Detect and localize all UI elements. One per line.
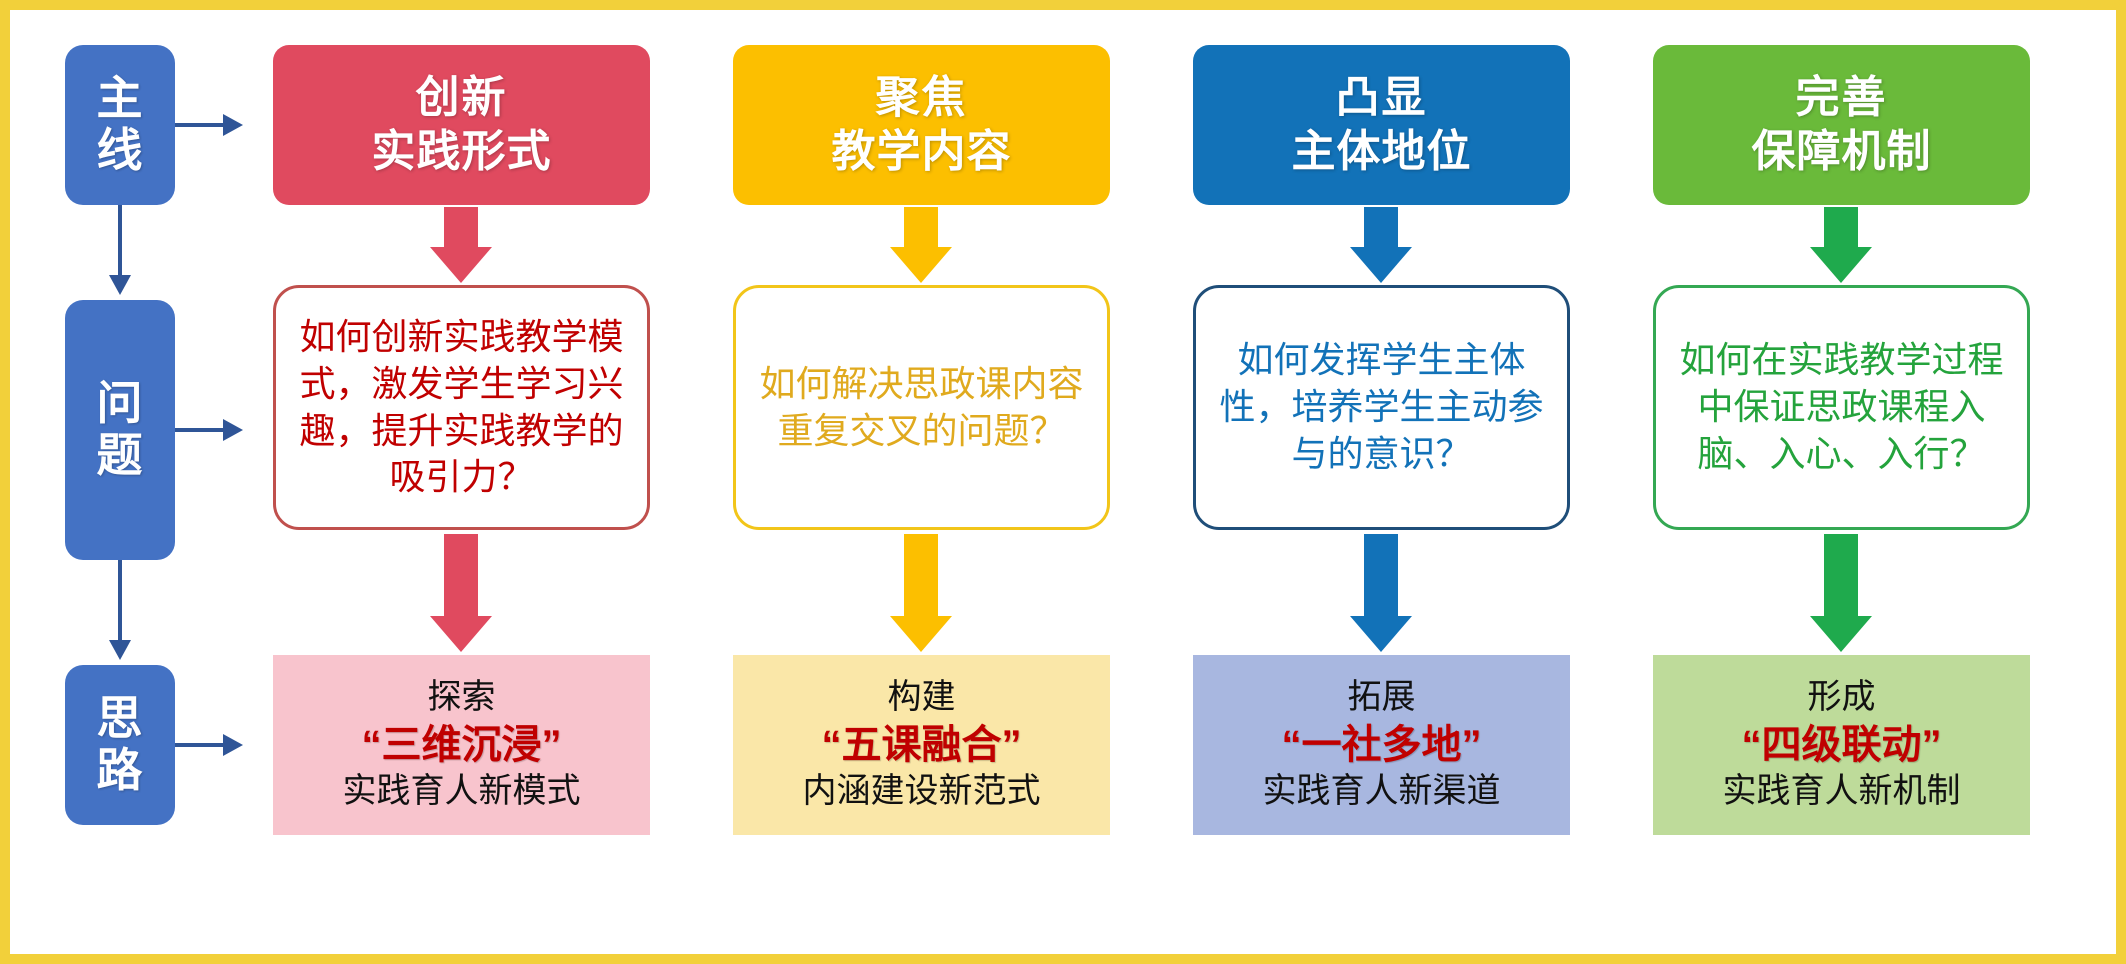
header-box[interactable]: 凸显 主体地位 xyxy=(1193,45,1570,205)
spine-item-approach: 思 路 xyxy=(65,665,175,825)
result-highlight: “五课融合” xyxy=(822,721,1022,770)
result-highlight: “四级联动” xyxy=(1742,721,1942,770)
result-line1: 拓展 xyxy=(1348,677,1416,718)
diagram-frame: 主 线 问 题 思 路 创新 实践形式 xyxy=(0,0,2126,964)
spine-label-line1: 问 xyxy=(97,378,144,430)
header-line2: 实践形式 xyxy=(372,125,552,179)
spine-to-row-arrowhead-icon xyxy=(223,419,243,441)
result-line3: 实践育人新机制 xyxy=(1723,771,1961,812)
question-text: 如何在实践教学过程中保证思政课程入脑、入心、入行？ xyxy=(1672,337,2011,477)
column-innovation: 创新 实践形式 如何创新实践教学模式，激发学生学习兴趣，提升实践教学的吸引力？ … xyxy=(243,10,680,954)
question-box[interactable]: 如何在实践教学过程中保证思政课程入脑、入心、入行？ xyxy=(1653,285,2030,530)
result-box[interactable]: 拓展 “一社多地” 实践育人新渠道 xyxy=(1193,655,1570,835)
question-box[interactable]: 如何发挥学生主体性，培养学生主动参与的意识？ xyxy=(1193,285,1570,530)
result-line1: 形成 xyxy=(1808,677,1876,718)
spine-item-problem: 问 题 xyxy=(65,300,175,560)
spine-label-line1: 思 xyxy=(97,693,144,745)
spine-label-line1: 主 xyxy=(97,73,144,125)
result-box[interactable]: 探索 “三维沉浸” 实践育人新模式 xyxy=(273,655,650,835)
column-safeguard: 完善 保障机制 如何在实践教学过程中保证思政课程入脑、入心、入行？ 形成 “四级… xyxy=(1623,10,2060,954)
question-to-result-arrow xyxy=(890,534,952,652)
question-to-result-arrow xyxy=(1810,534,1872,652)
spine-connector-arrowhead-icon xyxy=(109,275,131,295)
header-to-question-arrow xyxy=(1810,207,1872,283)
header-to-question-arrow xyxy=(430,207,492,283)
question-to-result-arrow xyxy=(430,534,492,652)
question-box[interactable]: 如何解决思政课内容重复交叉的问题？ xyxy=(733,285,1110,530)
header-line2: 主体地位 xyxy=(1292,125,1472,179)
spine-to-row-arrow-line xyxy=(175,123,223,127)
result-box[interactable]: 形成 “四级联动” 实践育人新机制 xyxy=(1653,655,2030,835)
spine-connector-arrowhead-icon xyxy=(109,640,131,660)
spine-label-line2: 题 xyxy=(97,430,144,482)
result-highlight: “三维沉浸” xyxy=(362,721,562,770)
header-box[interactable]: 聚焦 教学内容 xyxy=(733,45,1110,205)
result-line3: 实践育人新渠道 xyxy=(1263,771,1501,812)
column-focus: 聚焦 教学内容 如何解决思政课内容重复交叉的问题？ 构建 “五课融合” 内涵建设… xyxy=(703,10,1140,954)
question-text: 如何发挥学生主体性，培养学生主动参与的意识？ xyxy=(1212,337,1551,477)
question-box[interactable]: 如何创新实践教学模式，激发学生学习兴趣，提升实践教学的吸引力？ xyxy=(273,285,650,530)
header-box[interactable]: 创新 实践形式 xyxy=(273,45,650,205)
header-line1: 聚焦 xyxy=(876,71,968,125)
header-line1: 完善 xyxy=(1796,71,1888,125)
spine-label-line2: 路 xyxy=(97,745,144,797)
header-to-question-arrow xyxy=(890,207,952,283)
question-text: 如何创新实践教学模式，激发学生学习兴趣，提升实践教学的吸引力？ xyxy=(292,314,631,501)
question-text: 如何解决思政课内容重复交叉的问题？ xyxy=(752,361,1091,455)
result-line3: 内涵建设新范式 xyxy=(803,771,1041,812)
header-line2: 保障机制 xyxy=(1752,125,1932,179)
header-to-question-arrow xyxy=(1350,207,1412,283)
result-line1: 探索 xyxy=(428,677,496,718)
result-box[interactable]: 构建 “五课融合” 内涵建设新范式 xyxy=(733,655,1110,835)
header-line1: 凸显 xyxy=(1336,71,1428,125)
spine-connector-line xyxy=(118,560,122,642)
spine-to-row-arrow-line xyxy=(175,743,223,747)
diagram-canvas: 主 线 问 题 思 路 创新 实践形式 xyxy=(10,10,2116,954)
spine-connector-line xyxy=(118,205,122,277)
result-line1: 构建 xyxy=(888,677,956,718)
header-line1: 创新 xyxy=(416,71,508,125)
spine-to-row-arrow-line xyxy=(175,428,223,432)
spine-to-row-arrowhead-icon xyxy=(223,734,243,756)
spine-to-row-arrowhead-icon xyxy=(223,114,243,136)
spine-item-main-line: 主 线 xyxy=(65,45,175,205)
spine-label-line2: 线 xyxy=(97,125,144,177)
result-highlight: “一社多地” xyxy=(1282,721,1482,770)
header-box[interactable]: 完善 保障机制 xyxy=(1653,45,2030,205)
column-subject-status: 凸显 主体地位 如何发挥学生主体性，培养学生主动参与的意识？ 拓展 “一社多地”… xyxy=(1163,10,1600,954)
question-to-result-arrow xyxy=(1350,534,1412,652)
header-line2: 教学内容 xyxy=(832,125,1012,179)
result-line3: 实践育人新模式 xyxy=(343,771,581,812)
